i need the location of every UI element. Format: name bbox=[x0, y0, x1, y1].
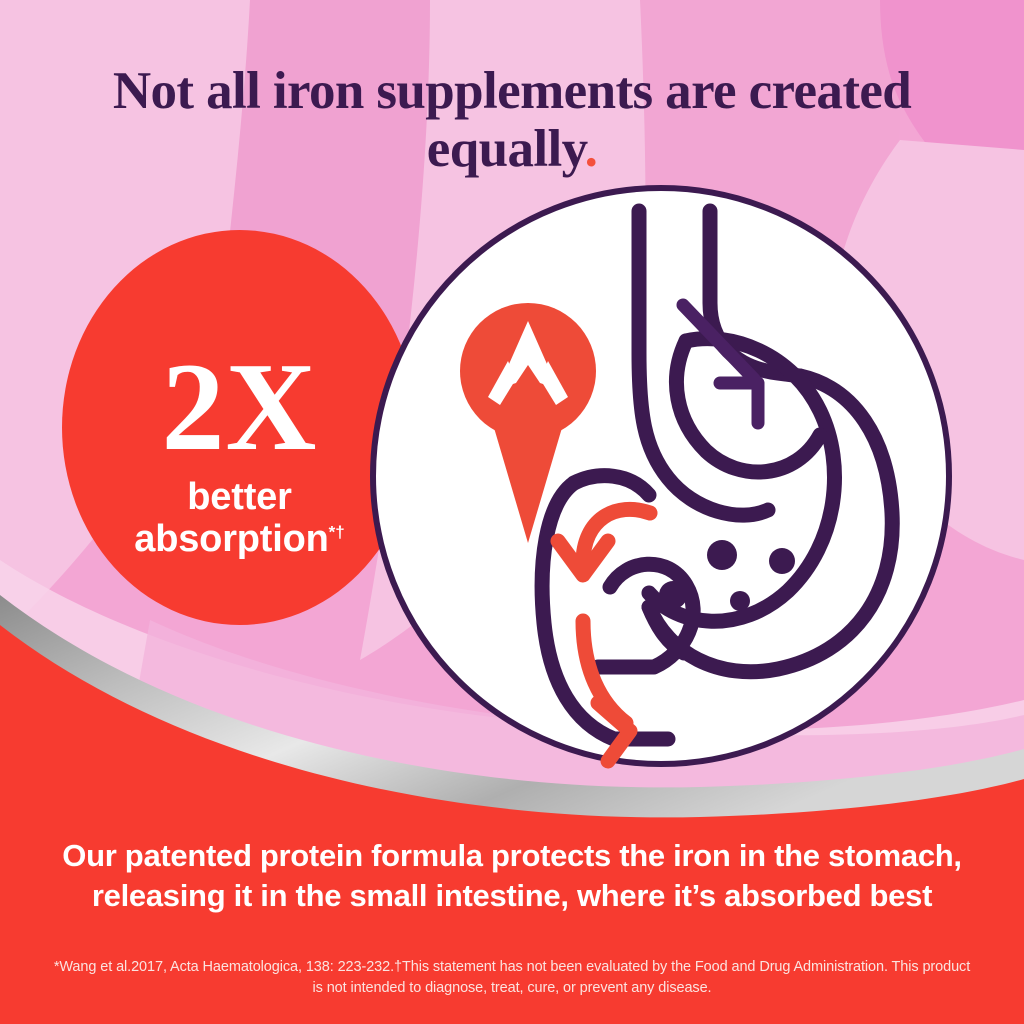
headline-period: . bbox=[585, 120, 598, 178]
headline-line-1: Not all iron supplements are created bbox=[113, 62, 911, 120]
headline: Not all iron supplements are created equ… bbox=[50, 62, 974, 179]
fineprint-disclaimer: *Wang et al.2017, Acta Haematologica, 13… bbox=[52, 957, 972, 998]
promotional-graphic: Not all iron supplements are created equ… bbox=[0, 0, 1024, 1024]
headline-line-2: equally bbox=[427, 120, 585, 178]
badge-superscript: *† bbox=[329, 523, 345, 542]
wave-divider bbox=[0, 555, 1024, 855]
badge-line-1: better bbox=[187, 476, 291, 519]
badge-multiplier: 2X bbox=[162, 350, 318, 466]
body-copy: Our patented protein formula protects th… bbox=[62, 836, 962, 915]
wave-divider-svg bbox=[0, 555, 1024, 855]
